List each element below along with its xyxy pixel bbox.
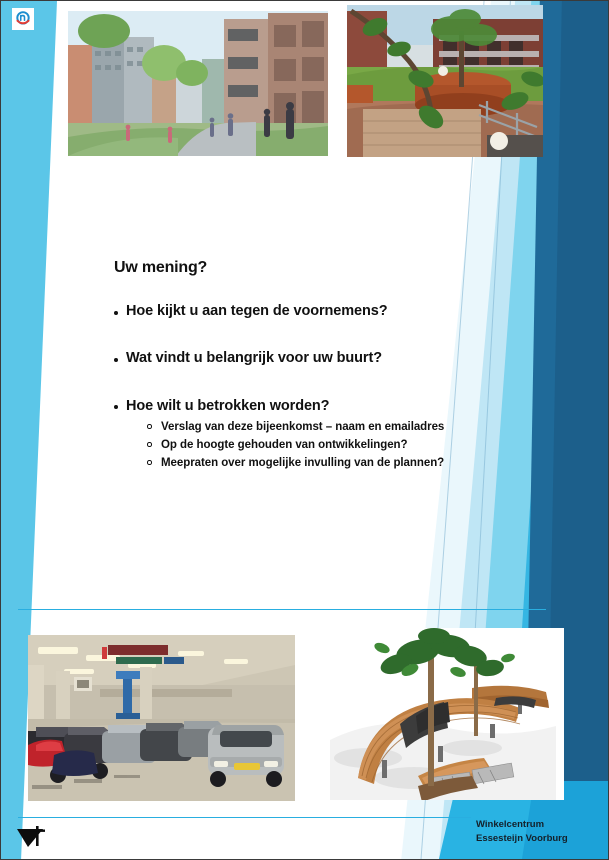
footer-divider [18, 817, 471, 818]
curved-bench-render [322, 628, 564, 800]
triangle-mark-icon [15, 825, 49, 849]
sub-bullet-item-2: Op de hoogte gehouden van ontwikkelingen… [161, 436, 514, 454]
sub-bullet-item-3: Meepraten over mogelijke invulling van d… [161, 454, 514, 472]
hollow-circle-bullet-icon [147, 460, 152, 465]
company-monogram-icon [12, 8, 34, 30]
hollow-circle-bullet-icon [147, 442, 152, 447]
section-divider [18, 609, 546, 610]
parking-garage-photo [28, 635, 295, 801]
sub-bullet-text: Op de hoogte gehouden van ontwikkelingen… [161, 439, 408, 451]
street-view-render [68, 11, 328, 156]
footer-caption: Winkelcentrum Essesteijn Voorburg [476, 818, 594, 845]
footer-line-2: Essesteijn Voorburg [476, 832, 594, 845]
bullet-item-1: Hoe kijkt u aan tegen de voornemens? [114, 303, 514, 320]
hollow-circle-bullet-icon [147, 424, 152, 429]
bullet-dot-icon [114, 311, 118, 315]
slide-content: Uw mening? Hoe kijkt u aan tegen de voor… [114, 259, 514, 473]
bullet-item-2: Wat vindt u belangrijk voor uw buurt? [114, 350, 514, 367]
sub-bullet-text: Meepraten over mogelijke invulling van d… [161, 457, 444, 469]
footer-line-1: Winkelcentrum [476, 818, 594, 831]
bullet-dot-icon [114, 358, 118, 362]
bullet-dot-icon [114, 405, 118, 409]
bullet-text: Hoe wilt u betrokken worden? [126, 398, 329, 414]
sub-bullet-item-1: Verslag van deze bijeenkomst – naam en e… [161, 418, 514, 436]
sub-bullet-text: Verslag van deze bijeenkomst – naam en e… [161, 421, 444, 433]
courtyard-photo [347, 5, 543, 157]
bullet-text: Hoe kijkt u aan tegen de voornemens? [126, 303, 388, 319]
page-title: Uw mening? [114, 259, 514, 277]
bullet-list: Hoe kijkt u aan tegen de voornemens? Wat… [114, 303, 514, 473]
sub-bullet-list: Verslag van deze bijeenkomst – naam en e… [126, 418, 514, 472]
bullet-text: Wat vindt u belangrijk voor uw buurt? [126, 350, 382, 366]
bullet-item-3: Hoe wilt u betrokken worden? Verslag van… [114, 398, 514, 473]
presentation-slide: Uw mening? Hoe kijkt u aan tegen de voor… [0, 0, 609, 860]
